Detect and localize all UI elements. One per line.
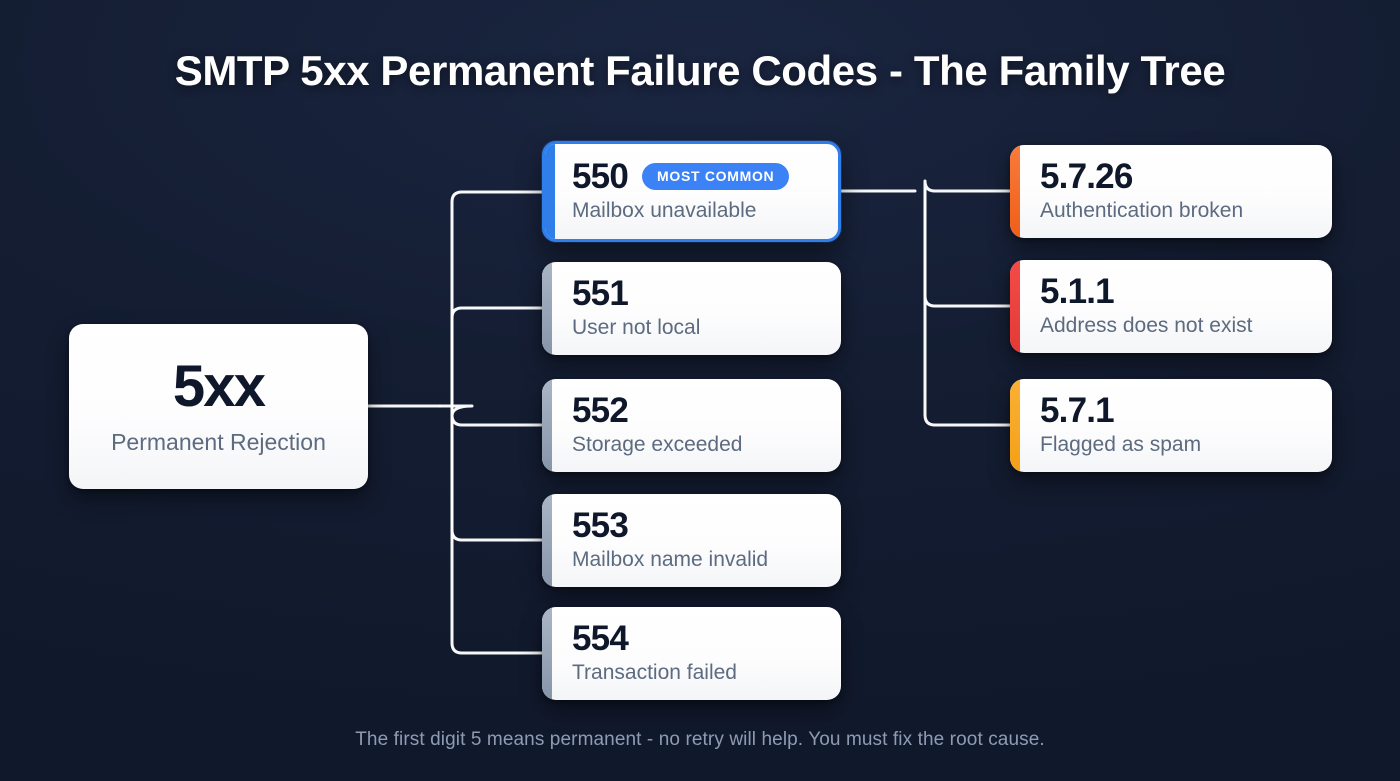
infographic-canvas: SMTP 5xx Permanent Failure Codes - The F… <box>0 0 1400 781</box>
node-code-5-7-1[interactable]: 5.7.1 Flagged as spam <box>1010 379 1332 472</box>
page-title: SMTP 5xx Permanent Failure Codes - The F… <box>0 47 1400 95</box>
footer-note: The first digit 5 means permanent - no r… <box>0 729 1400 751</box>
node-553-accent-bar <box>542 494 552 587</box>
connector-branch-550 <box>452 192 542 406</box>
node-554-accent-bar <box>542 607 552 700</box>
node-552-body: 552 Storage exceeded <box>572 379 827 472</box>
node-code-550[interactable]: 550 MOST COMMON Mailbox unavailable <box>542 141 841 242</box>
node-551-description: User not local <box>572 315 827 341</box>
node-code-554[interactable]: 554 Transaction failed <box>542 607 841 700</box>
node-553-description: Mailbox name invalid <box>572 547 827 573</box>
connector-branch-554 <box>452 406 542 653</box>
node-550-accent-bar <box>545 144 555 239</box>
node-550-code-row: 550 MOST COMMON <box>572 158 824 195</box>
node-550-code: 550 <box>572 158 628 195</box>
node-550-description: Mailbox unavailable <box>572 198 824 224</box>
node-code-553[interactable]: 553 Mailbox name invalid <box>542 494 841 587</box>
node-code-552[interactable]: 552 Storage exceeded <box>542 379 841 472</box>
node-root-code: 5xx <box>173 356 264 417</box>
node-550-body: 550 MOST COMMON Mailbox unavailable <box>572 144 824 239</box>
node-554-code: 554 <box>572 620 827 657</box>
node-root-body: 5xx Permanent Rejection <box>69 324 368 489</box>
connector-branch-553 <box>452 406 542 540</box>
node-5-7-26-code: 5.7.26 <box>1040 158 1318 195</box>
connector-branch-511 <box>925 191 1010 306</box>
node-code-5-7-26[interactable]: 5.7.26 Authentication broken <box>1010 145 1332 238</box>
node-551-body: 551 User not local <box>572 262 827 355</box>
node-5-7-1-description: Flagged as spam <box>1040 432 1318 458</box>
node-code-5-1-1[interactable]: 5.1.1 Address does not exist <box>1010 260 1332 353</box>
node-5-7-1-code: 5.7.1 <box>1040 392 1318 429</box>
node-root-5xx[interactable]: 5xx Permanent Rejection <box>69 324 368 489</box>
most-common-badge: MOST COMMON <box>642 163 789 190</box>
node-552-description: Storage exceeded <box>572 432 827 458</box>
node-551-accent-bar <box>542 262 552 355</box>
connector-branch-571 <box>925 191 1010 425</box>
node-5-7-26-body: 5.7.26 Authentication broken <box>1040 145 1318 238</box>
node-554-description: Transaction failed <box>572 660 827 686</box>
node-552-accent-bar <box>542 379 552 472</box>
connector-branch-551 <box>452 308 542 406</box>
node-5-7-26-description: Authentication broken <box>1040 198 1318 224</box>
node-5-1-1-description: Address does not exist <box>1040 313 1318 339</box>
node-551-code: 551 <box>572 275 827 312</box>
connector-branch-5726 <box>925 181 1010 191</box>
node-5-7-1-body: 5.7.1 Flagged as spam <box>1040 379 1318 472</box>
node-5-1-1-code: 5.1.1 <box>1040 273 1318 310</box>
node-5-1-1-body: 5.1.1 Address does not exist <box>1040 260 1318 353</box>
connector-branch-552 <box>440 406 542 425</box>
node-code-551[interactable]: 551 User not local <box>542 262 841 355</box>
node-552-code: 552 <box>572 392 827 429</box>
node-5-7-26-accent-bar <box>1010 145 1020 238</box>
node-553-code: 553 <box>572 507 827 544</box>
node-553-body: 553 Mailbox name invalid <box>572 494 827 587</box>
node-5-7-1-accent-bar <box>1010 379 1020 472</box>
node-5-1-1-accent-bar <box>1010 260 1020 353</box>
node-root-description: Permanent Rejection <box>111 428 326 457</box>
node-554-body: 554 Transaction failed <box>572 607 827 700</box>
